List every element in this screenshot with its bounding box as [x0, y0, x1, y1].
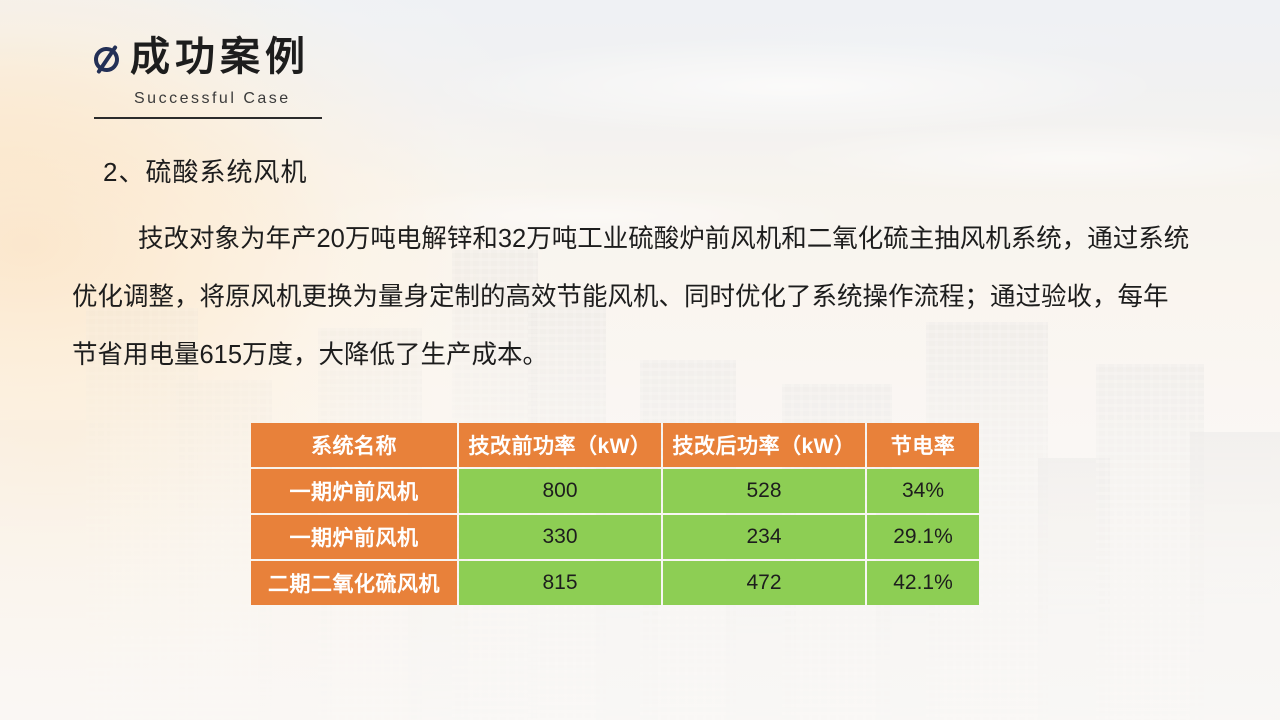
slashed-circle-icon — [90, 42, 124, 76]
power-comparison-table: 系统名称 技改前功率（kW） 技改后功率（kW） 节电率 一期炉前风机 800 … — [249, 421, 981, 607]
cell-system-name: 二期二氧化硫风机 — [251, 561, 457, 605]
column-header-system-name: 系统名称 — [251, 423, 457, 467]
cell-power-after: 528 — [663, 469, 865, 513]
page-title: 成功案例 — [130, 36, 310, 78]
body-line-1: 技改对象为年产20万吨电解锌和32万吨工业硫酸炉前风机和二氧化硫主抽风机系统，通… — [72, 210, 1244, 268]
table-row: 二期二氧化硫风机 815 472 42.1% — [251, 561, 979, 605]
cell-power-after: 234 — [663, 515, 865, 559]
page-subtitle: Successful Case — [134, 90, 322, 108]
cell-power-before: 330 — [459, 515, 661, 559]
slide-canvas: 成功案例 Successful Case 2、硫酸系统风机 技改对象为年产20万… — [0, 0, 1280, 720]
cell-power-after: 472 — [663, 561, 865, 605]
column-header-power-before: 技改前功率（kW） — [459, 423, 661, 467]
table-header-row: 系统名称 技改前功率（kW） 技改后功率（kW） 节电率 — [251, 423, 979, 467]
cell-system-name: 一期炉前风机 — [251, 469, 457, 513]
body-line-3: 节省用电量615万度，大降低了生产成本。 — [72, 326, 1244, 384]
body-line-2: 优化调整，将原风机更换为量身定制的高效节能风机、同时优化了系统操作流程；通过验收… — [72, 268, 1244, 326]
cell-system-name: 一期炉前风机 — [251, 515, 457, 559]
cell-saving-rate: 29.1% — [867, 515, 979, 559]
header-divider — [94, 117, 322, 119]
column-header-power-after: 技改后功率（kW） — [663, 423, 865, 467]
title-row: 成功案例 — [90, 36, 322, 78]
column-header-saving-rate: 节电率 — [867, 423, 979, 467]
section-heading: 2、硫酸系统风机 — [103, 152, 307, 189]
cell-power-before: 800 — [459, 469, 661, 513]
body-paragraph: 技改对象为年产20万吨电解锌和32万吨工业硫酸炉前风机和二氧化硫主抽风机系统，通… — [72, 210, 1244, 384]
slide-header: 成功案例 Successful Case — [90, 36, 322, 119]
cell-saving-rate: 42.1% — [867, 561, 979, 605]
cell-power-before: 815 — [459, 561, 661, 605]
table-row: 一期炉前风机 800 528 34% — [251, 469, 979, 513]
cell-saving-rate: 34% — [867, 469, 979, 513]
table-row: 一期炉前风机 330 234 29.1% — [251, 515, 979, 559]
